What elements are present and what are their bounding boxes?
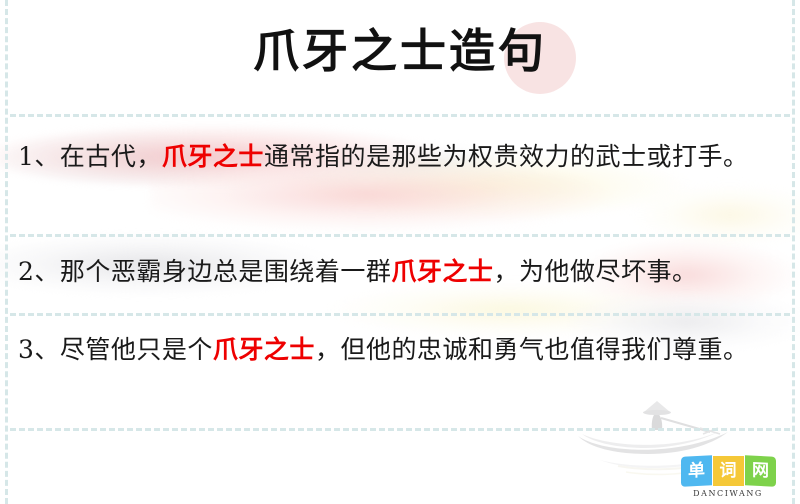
sentence-3-keyword: 爪牙之士 — [213, 335, 315, 364]
brand-subtitle: DANCIWANG — [670, 489, 786, 498]
sentence-1-number: 1、 — [18, 142, 60, 171]
example-sentence-1: 1、在古代，爪牙之士通常指的是那些为权贵效力的武士或打手。 — [18, 135, 782, 179]
brand-watermark: 单 词 网 DANCIWANG — [670, 456, 786, 498]
content-area: 爪牙之士造句 1、在古代，爪牙之士通常指的是那些为权贵效力的武士或打手。 2、那… — [0, 0, 800, 504]
sentence-2-keyword: 爪牙之士 — [391, 257, 493, 286]
sentence-2-text-before: 那个恶霸身边总是围绕着一群 — [60, 257, 392, 286]
sentence-1-text-after: 通常指的是那些为权贵效力的武士或打手。 — [264, 142, 749, 171]
example-sentence-2: 2、那个恶霸身边总是围绕着一群爪牙之士，为他做尽坏事。 — [18, 250, 782, 294]
page-title: 爪牙之士造句 — [0, 24, 800, 79]
sentence-1-text-before: 在古代， — [60, 142, 162, 171]
brand-panel-3: 网 — [745, 455, 776, 487]
brand-logo-icon: 单 词 网 — [670, 456, 786, 486]
brand-panel-1: 单 — [681, 455, 712, 487]
sentence-2-text-after: ，为他做尽坏事。 — [493, 257, 697, 286]
sentence-3-text-before: 尽管他只是个 — [60, 335, 213, 364]
slide-page: 爪牙之士造句 1、在古代，爪牙之士通常指的是那些为权贵效力的武士或打手。 2、那… — [0, 0, 800, 504]
sentence-1-keyword: 爪牙之士 — [162, 142, 264, 171]
brand-panel-2: 词 — [713, 456, 744, 486]
sentence-2-number: 2、 — [18, 257, 60, 286]
example-sentence-3: 3、尽管他只是个爪牙之士，但他的忠诚和勇气也值得我们尊重。 — [18, 328, 782, 372]
sentence-3-text-after: ，但他的忠诚和勇气也值得我们尊重。 — [315, 335, 749, 364]
sentence-3-number: 3、 — [18, 335, 60, 364]
